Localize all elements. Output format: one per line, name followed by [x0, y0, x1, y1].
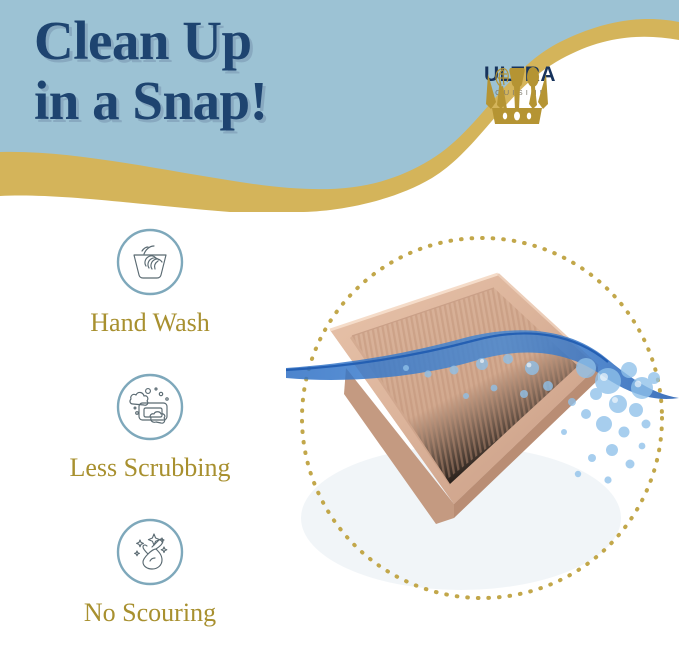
feature-label: Hand Wash — [0, 310, 300, 336]
feature-item-less-scrubbing: Less Scrubbing — [0, 373, 300, 481]
product-illustration — [286, 218, 679, 652]
feature-label: No Scouring — [0, 600, 300, 626]
promo-banner: Clean Up in a Snap! — [0, 0, 679, 652]
snapping-fingers-sparkle-icon — [116, 518, 184, 586]
feature-list: Hand Wash Less Scrubbing — [0, 214, 300, 652]
feature-item-hand-wash: Hand Wash — [0, 228, 300, 336]
hand-wash-icon — [116, 228, 184, 296]
headline-line-2: in a Snap! — [34, 74, 414, 128]
brand-logo: ULTRA CUISINE — [478, 62, 562, 97]
soap-suds-icon — [116, 373, 184, 441]
headline-line-1: Clean Up — [34, 14, 414, 68]
page-title: Clean Up in a Snap! — [34, 14, 414, 128]
header-section: Clean Up in a Snap! — [0, 0, 679, 212]
utensil-crown-icon — [478, 62, 556, 128]
product-image — [286, 218, 679, 652]
feature-item-no-scouring: No Scouring — [0, 518, 300, 626]
feature-label: Less Scrubbing — [0, 455, 300, 481]
